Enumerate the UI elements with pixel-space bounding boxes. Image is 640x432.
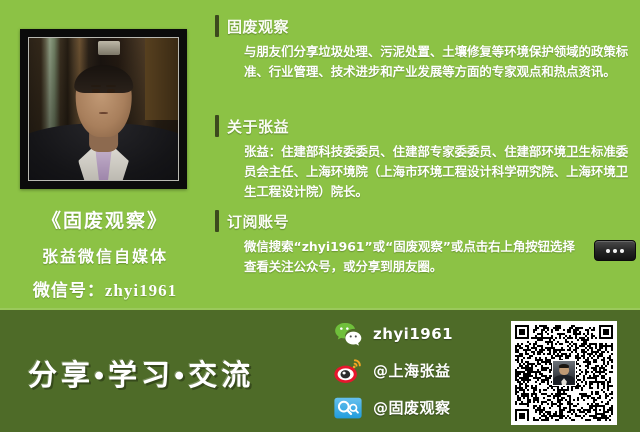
tencent-weibo-icon — [333, 393, 363, 423]
photo-hair — [74, 65, 134, 93]
social-accounts-list: zhyi1961 @上海张益 — [333, 316, 508, 427]
qr-avatar-photo — [553, 361, 575, 385]
section-header: 订阅账号 — [214, 208, 640, 234]
photo-eyebrow-left — [91, 85, 101, 87]
social-label-tencent-weibo: @固废观察 — [373, 397, 451, 418]
photo-background-lamp — [98, 41, 120, 55]
section-heading-text: 固废观察 — [227, 16, 289, 37]
slogan-text: 分享•学习•交流 — [28, 352, 254, 394]
section-body-text: 微信搜索“zhyi1961”或“固废观察”或点击右上角按钮选择查看关注公众号，或… — [214, 237, 640, 277]
photo-eye-right — [107, 89, 115, 92]
more-dot-2 — [613, 249, 617, 253]
section-about-account: 固废观察 与朋友们分享垃圾处理、污泥处置、土壤修复等环境保护领域的政策标准、行业… — [214, 13, 640, 82]
weibo-icon — [333, 356, 363, 386]
social-label-weibo: @上海张益 — [373, 360, 451, 381]
section-accent-bar — [215, 115, 219, 137]
wechat-more-menu-button[interactable] — [594, 240, 636, 261]
social-label-wechat: zhyi1961 — [373, 325, 453, 343]
wechat-icon — [333, 319, 363, 349]
photo-background-pillar — [145, 38, 178, 120]
section-body-text: 与朋友们分享垃圾处理、污泥处置、土壤修复等环境保护领域的政策标准、行业管理、技术… — [214, 42, 640, 82]
more-dot-1 — [606, 249, 610, 253]
wechat-id-line: 微信号：zhyi1961 — [0, 276, 210, 301]
section-header: 固废观察 — [214, 13, 640, 39]
section-body-text: 张益：住建部科技委委员、住建部专家委委员、住建部环境卫生标准委员会主任、上海环境… — [214, 142, 640, 202]
account-title: 《固废观察》 — [0, 206, 210, 233]
more-dot-3 — [620, 249, 624, 253]
qr-center-avatar — [552, 360, 576, 386]
wechat-official-account-promo-card: 《固废观察》 张益微信自媒体 微信号：zhyi1961 固废观察 与朋友们分享垃… — [0, 0, 640, 432]
photo-eye-left — [92, 89, 100, 92]
section-heading-text: 关于张益 — [227, 116, 289, 137]
qr-avatar-hair — [559, 364, 569, 368]
right-content-column: 固废观察 与朋友们分享垃圾处理、污泥处置、土壤修复等环境保护领域的政策标准、行业… — [214, 0, 640, 309]
social-row-weibo[interactable]: @上海张益 — [333, 353, 508, 388]
section-accent-bar — [215, 210, 219, 232]
wechat-qr-code[interactable] — [511, 321, 617, 425]
section-about-author: 关于张益 张益：住建部科技委委员、住建部专家委委员、住建部环境卫生标准委员会主任… — [214, 113, 640, 202]
social-row-wechat[interactable]: zhyi1961 — [333, 316, 508, 351]
section-subscribe: 订阅账号 微信搜索“zhyi1961”或“固废观察”或点击右上角按钮选择查看关注… — [214, 208, 640, 277]
photo-mouth — [99, 112, 108, 114]
social-row-tencent-weibo[interactable]: @固废观察 — [333, 390, 508, 425]
section-header: 关于张益 — [214, 113, 640, 139]
section-heading-text: 订阅账号 — [227, 211, 289, 232]
left-column: 《固废观察》 张益微信自媒体 微信号：zhyi1961 — [0, 0, 210, 309]
portrait-frame — [20, 29, 187, 189]
portrait-inner-border — [28, 37, 179, 181]
section-accent-bar — [215, 15, 219, 37]
account-subtitle: 张益微信自媒体 — [0, 243, 210, 267]
portrait-photo — [29, 38, 178, 180]
